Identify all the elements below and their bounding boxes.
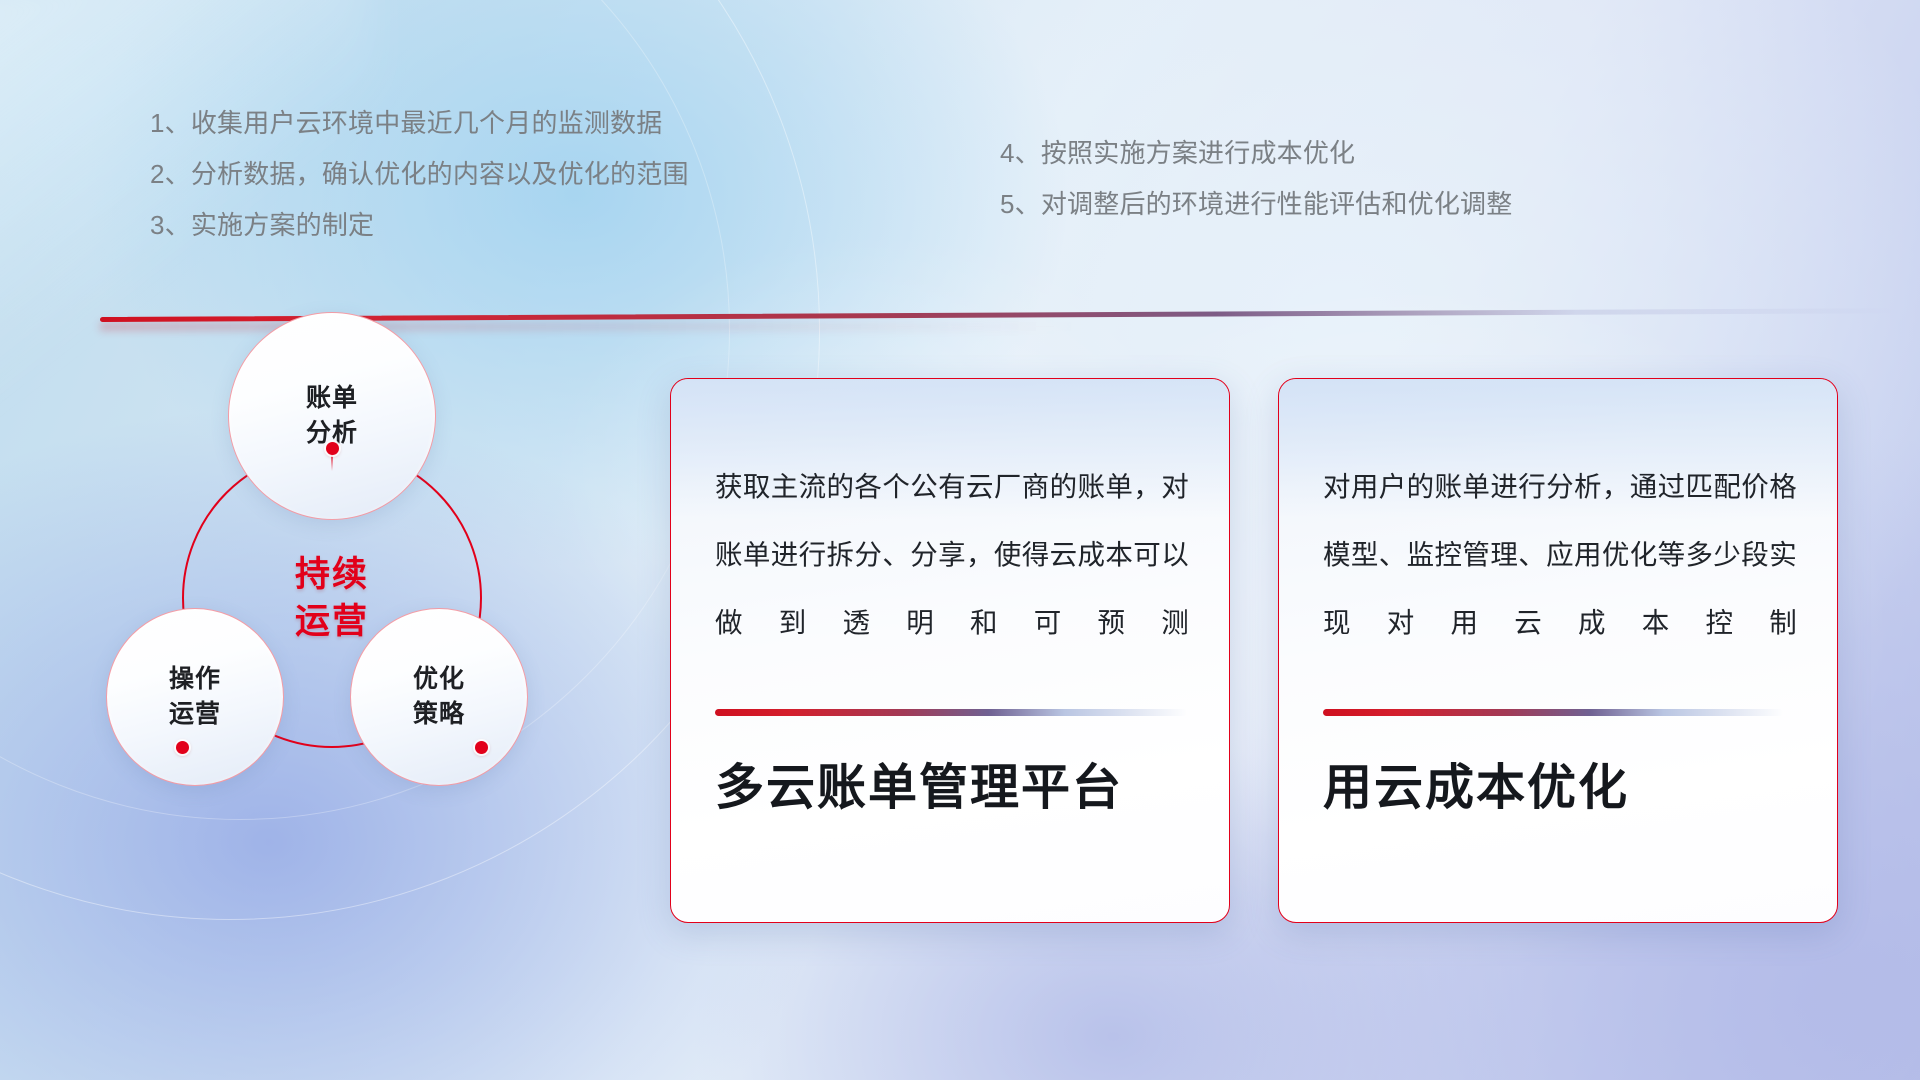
feature-cards: 获取主流的各个公有云厂商的账单，对账单进行拆分、分享，使得云成本可以做到透明和可… xyxy=(670,378,1870,938)
steps-list: 1、收集用户云环境中最近几个月的监测数据 2、分析数据，确认优化的内容以及优化的… xyxy=(0,0,1920,260)
card-multi-cloud-bill-platform[interactable]: 获取主流的各个公有云厂商的账单，对账单进行拆分、分享，使得云成本可以做到透明和可… xyxy=(670,378,1230,923)
node-dot-right-icon xyxy=(475,741,488,754)
node-dot-left-icon xyxy=(176,741,189,754)
bubble-operation-management[interactable]: 操作 运营 xyxy=(106,608,284,786)
continuous-operation-diagram: 持续 运营 账单 分析 操作 运营 优化 策略 xyxy=(100,330,570,940)
bubble-label: 账单 分析 xyxy=(306,381,358,451)
node-dot-top-icon xyxy=(326,442,339,455)
step-item: 1、收集用户云环境中最近几个月的监测数据 xyxy=(150,98,790,149)
card-divider-rule xyxy=(715,709,1187,716)
steps-column-left: 1、收集用户云环境中最近几个月的监测数据 2、分析数据，确认优化的内容以及优化的… xyxy=(150,98,790,251)
bubble-bill-analysis[interactable]: 账单 分析 xyxy=(228,312,436,520)
bubble-label: 操作 运营 xyxy=(169,662,221,732)
step-item: 3、实施方案的制定 xyxy=(150,200,790,251)
card-body-text: 对用户的账单进行分析，通过匹配价格模型、监控管理、应用优化等多少段实现对用云成本… xyxy=(1323,453,1797,657)
node-connector-top xyxy=(331,455,333,471)
step-item: 4、按照实施方案进行成本优化 xyxy=(1000,128,1720,179)
step-item: 5、对调整后的环境进行性能评估和优化调整 xyxy=(1000,179,1720,230)
steps-column-right: 4、按照实施方案进行成本优化 5、对调整后的环境进行性能评估和优化调整 xyxy=(1000,128,1720,230)
card-body-text: 获取主流的各个公有云厂商的账单，对账单进行拆分、分享，使得云成本可以做到透明和可… xyxy=(715,453,1189,657)
bubble-optimization-strategy[interactable]: 优化 策略 xyxy=(350,608,528,786)
bubble-label: 优化 策略 xyxy=(413,662,465,732)
card-title: 多云账单管理平台 xyxy=(715,757,1189,819)
card-title: 用云成本优化 xyxy=(1323,757,1797,819)
card-cloud-cost-optimization[interactable]: 对用户的账单进行分析，通过匹配价格模型、监控管理、应用优化等多少段实现对用云成本… xyxy=(1278,378,1838,923)
slide-canvas: 1、收集用户云环境中最近几个月的监测数据 2、分析数据，确认优化的内容以及优化的… xyxy=(0,0,1920,1080)
step-item: 2、分析数据，确认优化的内容以及优化的范围 xyxy=(150,149,790,200)
card-divider-rule xyxy=(1323,709,1783,716)
